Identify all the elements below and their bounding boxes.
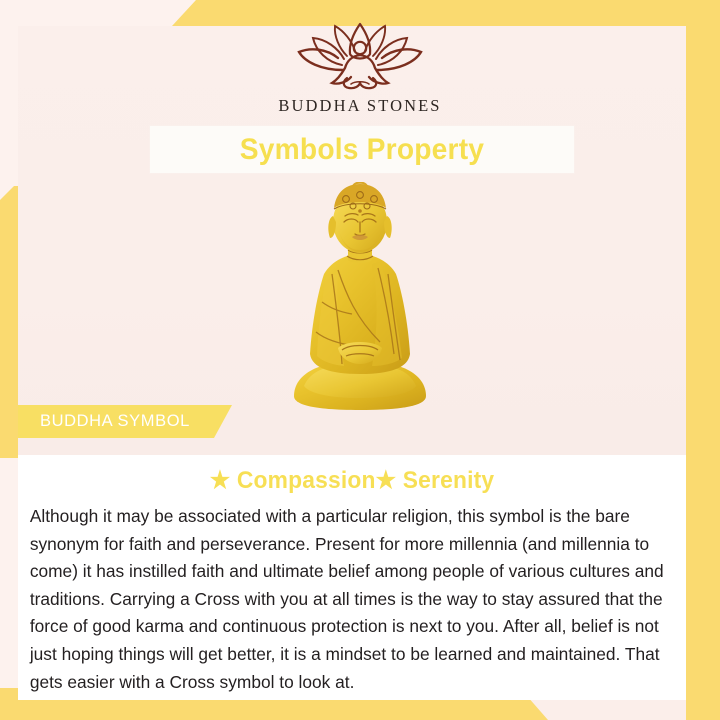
content-headline: ★ Compassion★ Serenity <box>35 466 670 495</box>
brand-logo: BUDDHA STONES <box>0 22 720 116</box>
infographic-page: BUDDHA STONES Symbols Property <box>0 0 720 720</box>
status-badge-label: BUDDHA SYMBOL <box>18 412 190 431</box>
page-title-bar: Symbols Property <box>150 126 574 173</box>
hero-image <box>0 182 720 414</box>
seated-golden-buddha-illustration <box>260 182 460 414</box>
brand-name: BUDDHA STONES <box>278 96 441 116</box>
lotus-meditation-figure-icon <box>285 22 435 92</box>
page-title: Symbols Property <box>240 133 484 167</box>
content-card: ★ Compassion★ Serenity Although it may b… <box>18 455 686 700</box>
status-badge: BUDDHA SYMBOL <box>18 405 232 438</box>
content-body: Although it may be associated with a par… <box>18 503 676 696</box>
